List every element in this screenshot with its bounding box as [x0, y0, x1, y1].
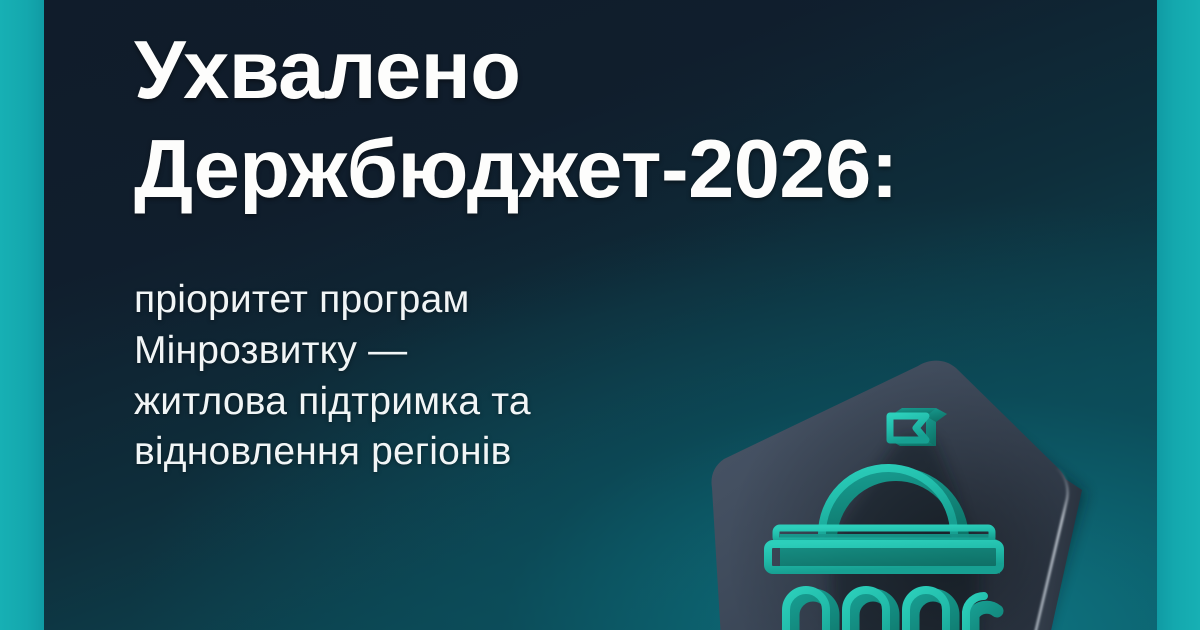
headline-line-2: Держбюджет-2026:: [134, 127, 1114, 212]
page-subtitle: пріоритет програм Мінрозвитку — житлова …: [134, 275, 1114, 478]
banner-stage: Ухвалено Держбюджет-2026: пріоритет прог…: [44, 0, 1157, 630]
subtitle-line-1: пріоритет програм: [134, 275, 1114, 326]
subtitle-line-2: Мінрозвитку —: [134, 326, 1114, 377]
headline-line-1: Ухвалено: [134, 28, 1114, 113]
left-accent-band: [0, 0, 44, 630]
subtitle-line-3: житлова підтримка та: [134, 377, 1114, 428]
banner-content: Ухвалено Держбюджет-2026: пріоритет прог…: [134, 28, 1114, 478]
subtitle-line-4: відновлення регіонів: [134, 427, 1114, 478]
cornice-icon: [768, 528, 1000, 574]
page-title: Ухвалено Держбюджет-2026:: [134, 28, 1114, 211]
right-accent-band: [1157, 0, 1200, 630]
banner-root: Ухвалено Держбюджет-2026: пріоритет прог…: [0, 0, 1200, 630]
